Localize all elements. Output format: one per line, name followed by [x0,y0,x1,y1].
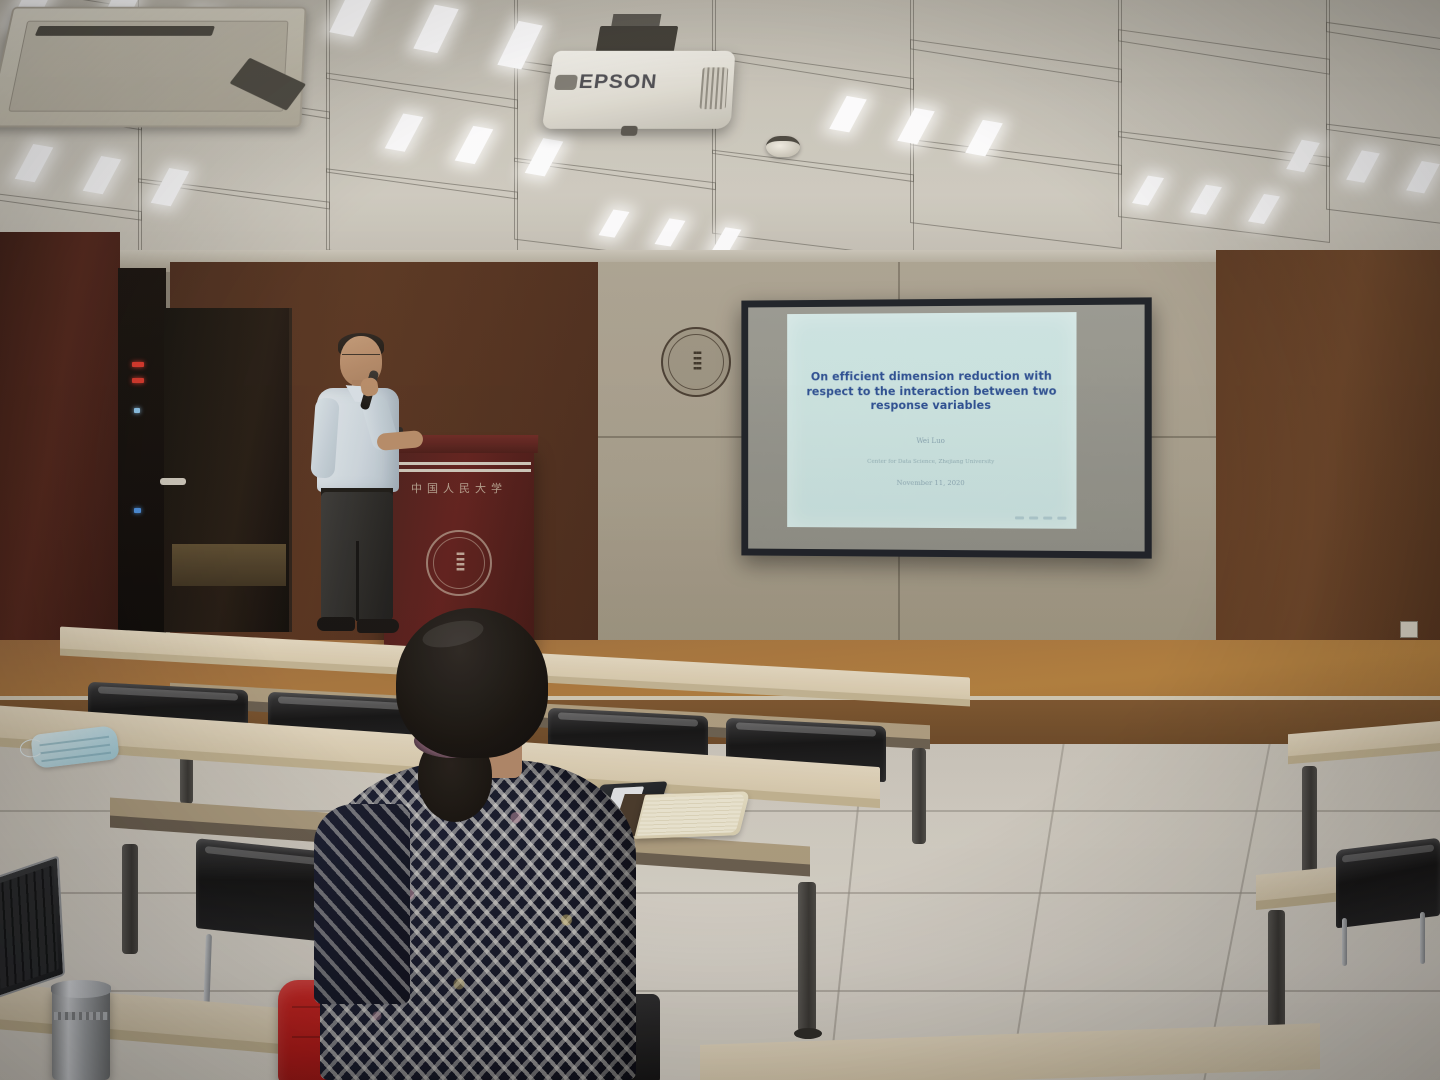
led-indicator-red [132,378,144,383]
presenter-person [305,336,435,650]
air-conditioner-cassette [0,7,307,128]
led-indicator-blue [134,508,141,513]
equipment-rack-panel [118,268,166,648]
projector-lens [554,75,578,90]
open-notebook[interactable] [634,791,750,839]
presenter-right-forearm [376,430,423,451]
ruc-emblem-glyph: ⦙⦙⦙ [455,548,463,578]
door-handle[interactable] [160,478,186,485]
equipment-cabinet [0,232,120,652]
ruc-emblem-wall: ⦙⦙⦙ [661,327,731,397]
presentation-slide: On efficient dimension reduction with re… [787,312,1076,529]
lecture-hall-photo: EPSON ⦙⦙⦙ On efficient dimension reducti… [0,0,1440,1080]
projection-screen: On efficient dimension reduction with re… [741,297,1151,558]
slide-title: On efficient dimension reduction with re… [803,370,1061,414]
laptop-keyboard[interactable] [0,855,65,999]
slide-author: Wei Luo [787,437,1076,445]
wall-panel-wood-right [1216,250,1440,670]
presenter-glasses [342,354,380,363]
ruc-emblem-podium: ⦙⦙⦙ [426,530,492,596]
chair-right[interactable] [1336,844,1440,964]
projector-adjust-knob [620,126,637,136]
desk-bottom-right [700,1034,1320,1080]
room-door[interactable] [164,308,292,632]
attendee-person [300,608,640,1080]
slide-affiliation: Center for Data Science, Zhejiang Univer… [787,459,1076,466]
epson-projector: EPSON [542,51,736,129]
door-kickplate [172,544,286,586]
slide-date: November 11, 2020 [787,479,1076,488]
slide-nav-dots [1015,516,1066,519]
led-indicator-blue [134,408,140,413]
led-indicator-red [132,362,144,367]
smoke-detector-icon [766,136,800,157]
ruc-emblem-glyph: ⦙⦙⦙ [692,347,700,377]
attendee-left-shoulder [314,804,410,1004]
projector-brand-label: EPSON [577,71,658,94]
wall-power-outlet [1400,621,1418,638]
projector-mount [596,26,679,52]
projector-vent [699,67,728,109]
thermos-flask[interactable] [52,986,110,1080]
